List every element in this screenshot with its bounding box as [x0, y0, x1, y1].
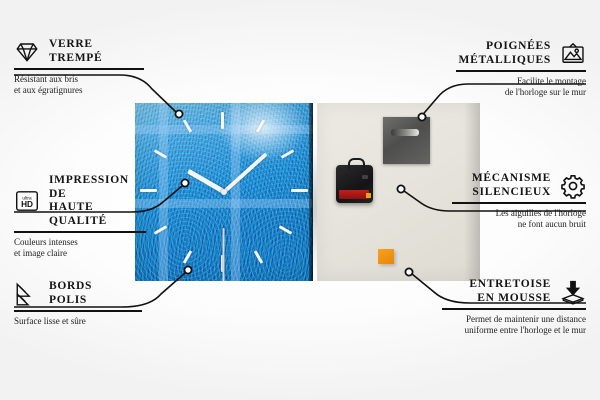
battery-terminal	[366, 193, 371, 198]
callout-header: ultra HD IMPRESSION DE HAUTE QUALITÉ	[14, 174, 146, 228]
callout-subtitle: Surface lisse et sûre	[14, 316, 142, 327]
callout-divider	[14, 231, 146, 233]
infographic-canvas: VERRE TREMPÉ Résistant aux bris et aux é…	[0, 0, 600, 400]
callout-divider	[456, 70, 586, 72]
product-image	[135, 103, 480, 281]
callout-title: MÉCANISME SILENCIEUX	[472, 172, 551, 199]
callout-header: VERRE TREMPÉ	[14, 38, 144, 65]
callout-mecanisme-silencieux: MÉCANISME SILENCIEUX Les aiguilles de l'…	[452, 172, 586, 230]
clock-center-cap	[221, 189, 227, 195]
callout-divider	[14, 68, 144, 70]
callout-impression-haute-qualite: ultra HD IMPRESSION DE HAUTE QUALITÉ Cou…	[14, 174, 146, 259]
callout-subtitle: Couleurs intenses et image claire	[14, 237, 146, 259]
diamond-icon	[14, 39, 40, 65]
callout-title: ENTRETOISE EN MOUSSE	[469, 278, 551, 305]
callout-header: POIGNÉES MÉTALLIQUES	[456, 40, 586, 67]
callout-title: VERRE TREMPÉ	[49, 38, 102, 65]
callout-subtitle: Permet de maintenir une distance uniform…	[442, 314, 586, 336]
callout-title: IMPRESSION DE HAUTE QUALITÉ	[49, 174, 146, 228]
callout-verre-trempe: VERRE TREMPÉ Résistant aux bris et aux é…	[14, 38, 144, 96]
callout-divider	[452, 202, 586, 204]
callout-bords-polis: BORDS POLIS Surface lisse et sûre	[14, 280, 142, 327]
callout-header: MÉCANISME SILENCIEUX	[452, 172, 586, 199]
clock-face	[135, 103, 313, 281]
clock-mechanism	[336, 165, 373, 203]
callout-title: POIGNÉES MÉTALLIQUES	[459, 40, 551, 67]
callout-subtitle: Facilite le montage de l'horloge sur le …	[456, 76, 586, 98]
gear-icon	[560, 173, 586, 199]
framed-picture-hanger-icon	[560, 41, 586, 67]
hanger-plate	[383, 117, 430, 164]
arrow-onto-pad-icon	[560, 279, 586, 305]
svg-text:HD: HD	[21, 200, 33, 209]
callout-header: ENTRETOISE EN MOUSSE	[442, 278, 586, 305]
callout-divider	[14, 310, 142, 312]
battery	[339, 190, 369, 199]
callout-divider	[442, 308, 586, 310]
callout-header: BORDS POLIS	[14, 280, 142, 307]
callout-title: BORDS POLIS	[49, 280, 92, 307]
ultra-hd-icon: ultra HD	[14, 188, 40, 214]
mechanism-knob	[362, 175, 368, 179]
hanger-keyhole-slot	[391, 129, 419, 136]
callout-subtitle: Les aiguilles de l'horloge ne font aucun…	[452, 208, 586, 230]
callout-subtitle: Résistant aux bris et aux égratignures	[14, 74, 144, 96]
mechanism-hanging-loop	[348, 158, 365, 169]
glass-edge	[309, 103, 313, 281]
foam-spacer	[378, 249, 394, 264]
callout-poignees-metalliques: POIGNÉES MÉTALLIQUES Facilite le montage…	[456, 40, 586, 98]
callout-entretoise-en-mousse: ENTRETOISE EN MOUSSE Permet de maintenir…	[442, 278, 586, 336]
polished-edge-icon	[14, 281, 40, 307]
